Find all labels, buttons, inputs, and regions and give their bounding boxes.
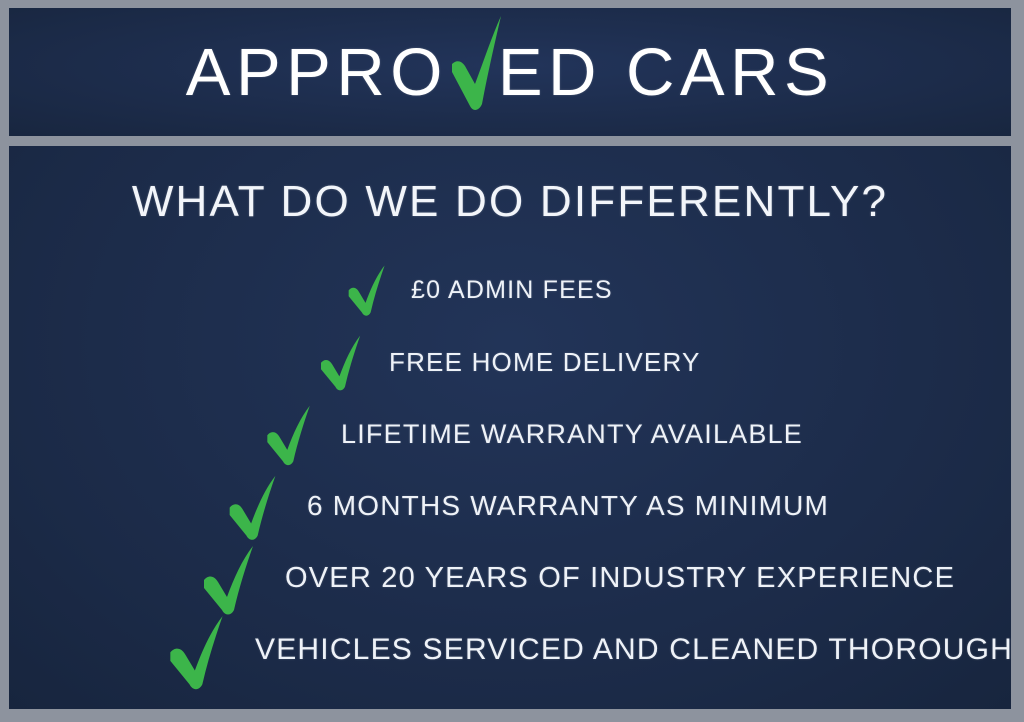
check-mark-icon xyxy=(446,24,502,120)
list-item: LIFETIME WARRANTY AVAILABLE xyxy=(9,398,1011,470)
body-panel: WHAT DO WE DO DIFFERENTLY? £0 ADMIN FEES… xyxy=(9,146,1011,709)
page-title: WHAT DO WE DO DIFFERENTLY? xyxy=(9,180,1011,224)
check-mark-icon xyxy=(225,474,281,538)
list-item-label: £0 ADMIN FEES xyxy=(411,276,613,305)
promo-poster: APPRO ED CARS WHAT DO WE DO DIFFERENTLY?… xyxy=(0,0,1024,722)
list-item-label: FREE HOME DELIVERY xyxy=(389,347,701,378)
list-item: 6 MONTHS WARRANTY AS MINIMUM xyxy=(9,470,1011,542)
benefit-list: £0 ADMIN FEES FREE HOME DELIVERY LIFETIM… xyxy=(9,254,1011,686)
brand-logo: APPRO ED CARS xyxy=(9,24,1011,120)
list-item-label: OVER 20 YEARS OF INDUSTRY EXPERIENCE xyxy=(285,562,955,595)
list-item: FREE HOME DELIVERY xyxy=(9,326,1011,398)
list-item: VEHICLES SERVICED AND CLEANED THOROUGHLY xyxy=(9,614,1011,686)
list-item: OVER 20 YEARS OF INDUSTRY EXPERIENCE xyxy=(9,542,1011,614)
list-item-label: 6 MONTHS WARRANTY AS MINIMUM xyxy=(307,490,829,522)
check-mark-icon xyxy=(165,614,229,686)
check-mark-icon xyxy=(199,544,259,612)
header-panel: APPRO ED CARS xyxy=(9,8,1011,136)
list-item: £0 ADMIN FEES xyxy=(9,254,1011,326)
brand-text-after: ED CARS xyxy=(498,39,834,106)
check-mark-icon xyxy=(345,264,389,316)
list-item-label: LIFETIME WARRANTY AVAILABLE xyxy=(341,419,803,450)
brand-text-before: APPRO xyxy=(186,39,448,106)
check-mark-icon xyxy=(317,334,365,390)
list-item-label: VEHICLES SERVICED AND CLEANED THOROUGHLY xyxy=(255,633,1011,667)
check-mark-icon xyxy=(263,404,315,464)
